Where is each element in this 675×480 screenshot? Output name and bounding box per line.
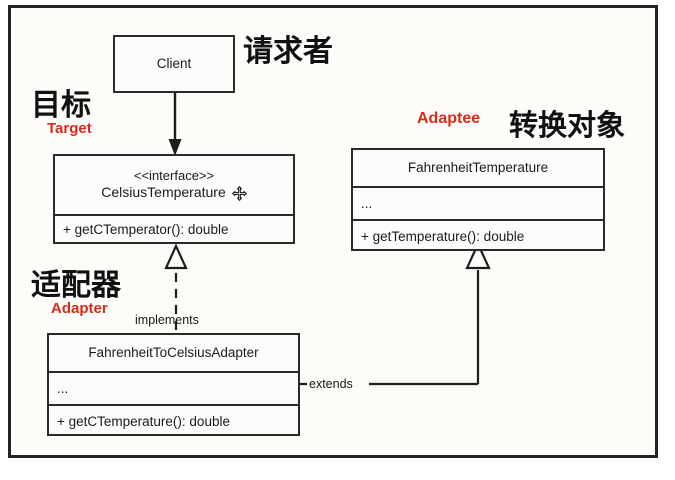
attribute-label: ... [361, 196, 372, 212]
screenshot-canvas: Client <<interface>> CelsiusTemperature … [0, 0, 675, 480]
annotation-adapter-en: Adapter [51, 300, 108, 317]
class-box-fahrenheit-to-celsius-adapter[interactable]: FahrenheitToCelsiusAdapter ... + getCTem… [47, 333, 300, 436]
operation-label: + getTemperature(): double [361, 229, 524, 245]
class-name-fahrenheit-to-celsius-adapter: FahrenheitToCelsiusAdapter [49, 335, 298, 371]
class-box-client[interactable]: Client [113, 35, 235, 93]
uml-diagram-surface: Client <<interface>> CelsiusTemperature … [8, 5, 658, 458]
class-name-client-label: Client [157, 56, 192, 72]
operation-row-celsius-interface: + getCTemperator(): double [55, 214, 293, 244]
annotation-adaptee-cjk: 转换对象 [509, 102, 625, 144]
annotation-requester-cjk: 请求者 [243, 26, 333, 70]
relationship-label-extends: extends [307, 377, 355, 391]
operation-label: + getCTemperature(): double [57, 414, 230, 430]
class-box-celsius-interface[interactable]: <<interface>> CelsiusTemperature + getCT… [53, 154, 295, 244]
annotation-adaptee-en: Adaptee [417, 110, 480, 128]
class-header-celsius-interface: <<interface>> CelsiusTemperature [55, 156, 293, 214]
relationship-label-implements: implements [135, 313, 199, 327]
annotation-target-en: Target [47, 120, 92, 137]
annotation-target-cjk: 目标 [31, 80, 91, 124]
move-cursor-icon [232, 186, 247, 201]
annotation-adapter-cjk: 适配器 [31, 260, 121, 304]
class-name-client: Client [115, 37, 233, 91]
operation-row-fahrenheit-temperature: + getTemperature(): double [353, 219, 603, 253]
operation-label: + getCTemperator(): double [63, 222, 228, 238]
class-name-fahrenheit-temperature: FahrenheitTemperature [353, 150, 603, 186]
attribute-row-fahrenheit-to-celsius-adapter: ... [49, 371, 298, 404]
stereotype-interface: <<interface>> [134, 169, 214, 184]
class-name-fahrenheit-temperature-label: FahrenheitTemperature [408, 160, 548, 176]
class-name-fahrenheit-to-celsius-adapter-label: FahrenheitToCelsiusAdapter [88, 345, 258, 361]
attribute-row-fahrenheit-temperature: ... [353, 186, 603, 219]
attribute-label: ... [57, 381, 68, 397]
class-name-celsius-label: CelsiusTemperature [101, 184, 226, 200]
operation-row-fahrenheit-to-celsius-adapter: + getCTemperature(): double [49, 404, 298, 438]
association-client-to-interface [169, 93, 182, 156]
generalization-adapter-extends-adaptee [300, 244, 489, 384]
class-name-celsius-row: CelsiusTemperature [101, 184, 247, 200]
class-box-fahrenheit-temperature[interactable]: FahrenheitTemperature ... + getTemperatu… [351, 148, 605, 251]
